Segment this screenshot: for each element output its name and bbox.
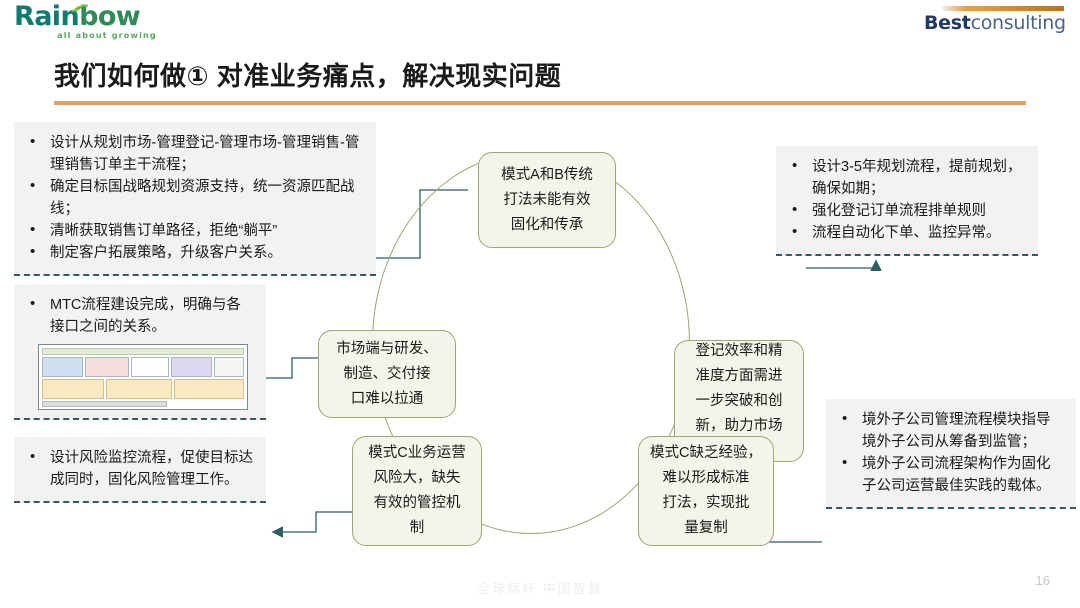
list-item: 制定客户拓展策略，升级客户关系。 xyxy=(24,242,364,264)
thumb-block xyxy=(171,357,212,377)
info-box-bottom-right: 境外子公司管理流程模块指导境外子公司从筹备到监管； 境外子公司流程架构作为固化子… xyxy=(826,399,1076,509)
list-item: 强化登记订单流程排单规则 xyxy=(786,200,1026,222)
leaf-icon xyxy=(70,4,90,14)
info-list: MTC流程建设完成，明确与各接口之间的关系。 xyxy=(24,294,254,338)
node-line: 市场端与研发、 xyxy=(336,337,438,362)
title-divider xyxy=(54,101,1026,105)
page-title: 我们如何做① 对准业务痛点，解决现实问题 xyxy=(54,56,561,93)
rainbow-logo-wordmark: Rainbow xyxy=(14,4,194,30)
list-item: 境外子公司管理流程模块指导境外子公司从筹备到监管； xyxy=(836,409,1064,453)
rainbow-logo-tagline: all about growing xyxy=(32,31,182,40)
info-list: 设计3-5年规划流程，提前规划，确保如期； 强化登记订单流程排单规则 流程自动化… xyxy=(786,156,1026,244)
mtc-process-diagram-thumbnail xyxy=(38,344,248,410)
thumb-block xyxy=(85,357,129,377)
slide-canvas: Rainbow all about growing Bestconsulting… xyxy=(0,0,1080,608)
node-line: 模式A和B传统 xyxy=(501,163,593,188)
list-item: MTC流程建设完成，明确与各接口之间的关系。 xyxy=(24,294,254,338)
cycle-node-top[interactable]: 模式A和B传统 打法未能有效 固化和传承 xyxy=(478,152,616,248)
cycle-node-bottom-left[interactable]: 模式C业务运营 风险大，缺失 有效的管控机 制 xyxy=(352,436,482,546)
list-item: 设计从规划市场-管理登记-管理市场-管理销售-管理销售订单主干流程； xyxy=(24,132,364,176)
best-consulting-logo: Bestconsulting xyxy=(924,6,1064,38)
list-item: 确定目标国战略规划资源支持，统一资源匹配战线； xyxy=(24,176,364,220)
node-line: 一步突破和创 xyxy=(696,389,783,414)
best-logo-accent-bar xyxy=(942,6,1064,11)
thumb-header-bar xyxy=(42,348,244,355)
node-line: 量复制 xyxy=(650,516,762,541)
node-line: 模式C业务运营 xyxy=(368,441,465,466)
thumb-band xyxy=(174,379,244,399)
thumb-block xyxy=(214,357,244,377)
info-list: 设计风险监控流程，促使目标达成同时，固化风险管理工作。 xyxy=(24,447,254,491)
list-item: 流程自动化下单、监控异常。 xyxy=(786,222,1026,244)
thumb-band-row xyxy=(42,379,244,399)
node-line: 制造、交付接 xyxy=(336,362,438,387)
best-logo-wordmark: Bestconsulting xyxy=(924,13,1064,34)
list-item: 设计3-5年规划流程，提前规划，确保如期； xyxy=(786,156,1026,200)
node-line: 难以形成标准 xyxy=(650,466,762,491)
list-item: 清晰获取销售订单路径，拒绝“躺平” xyxy=(24,220,364,242)
cycle-node-bottom-right[interactable]: 模式C缺乏经验， 难以形成标准 打法，实现批 量复制 xyxy=(638,436,774,546)
node-line: 模式C缺乏经验， xyxy=(650,441,762,466)
thumb-footer-bar xyxy=(42,401,167,407)
thumb-block-row xyxy=(42,357,244,377)
page-number: 16 xyxy=(1036,573,1050,588)
node-line: 打法未能有效 xyxy=(501,188,593,213)
info-box-top-right: 设计3-5年规划流程，提前规划，确保如期； 强化登记订单流程排单规则 流程自动化… xyxy=(776,146,1038,256)
node-line: 制 xyxy=(368,516,465,541)
info-box-top-left: 设计从规划市场-管理登记-管理市场-管理销售-管理销售订单主干流程； 确定目标国… xyxy=(14,122,376,276)
rainbow-logo: Rainbow all about growing xyxy=(14,4,194,40)
cycle-node-left[interactable]: 市场端与研发、 制造、交付接 口难以拉通 xyxy=(318,330,456,418)
thumb-band xyxy=(106,379,172,399)
node-line: 新，助力市场 xyxy=(696,414,783,439)
node-line: 有效的管控机 xyxy=(368,491,465,516)
node-line: 准度方面需进 xyxy=(696,364,783,389)
info-box-middle-left: MTC流程建设完成，明确与各接口之间的关系。 xyxy=(14,284,266,420)
info-box-bottom-left: 设计风险监控流程，促使目标达成同时，固化风险管理工作。 xyxy=(14,437,266,503)
thumb-band xyxy=(42,379,104,399)
list-item: 设计风险监控流程，促使目标达成同时，固化风险管理工作。 xyxy=(24,447,254,491)
node-line: 登记效率和精 xyxy=(696,339,783,364)
info-list: 境外子公司管理流程模块指导境外子公司从筹备到监管； 境外子公司流程架构作为固化子… xyxy=(836,409,1064,497)
thumb-block xyxy=(131,357,168,377)
info-list: 设计从规划市场-管理登记-管理市场-管理销售-管理销售订单主干流程； 确定目标国… xyxy=(24,132,364,264)
node-line: 口难以拉通 xyxy=(336,387,438,412)
node-line: 风险大，缺失 xyxy=(368,466,465,491)
node-line: 打法，实现批 xyxy=(650,491,762,516)
thumb-block xyxy=(42,357,83,377)
node-line: 固化和传承 xyxy=(501,213,593,238)
footer-watermark: 全球标杆 中国智慧 xyxy=(0,578,1080,597)
list-item: 境外子公司流程架构作为固化子公司运营最佳实践的载体。 xyxy=(836,453,1064,497)
cycle-diagram: 模式A和B传统 打法未能有效 固化和传承 登记效率和精 准度方面需进 一步突破和… xyxy=(330,150,750,570)
